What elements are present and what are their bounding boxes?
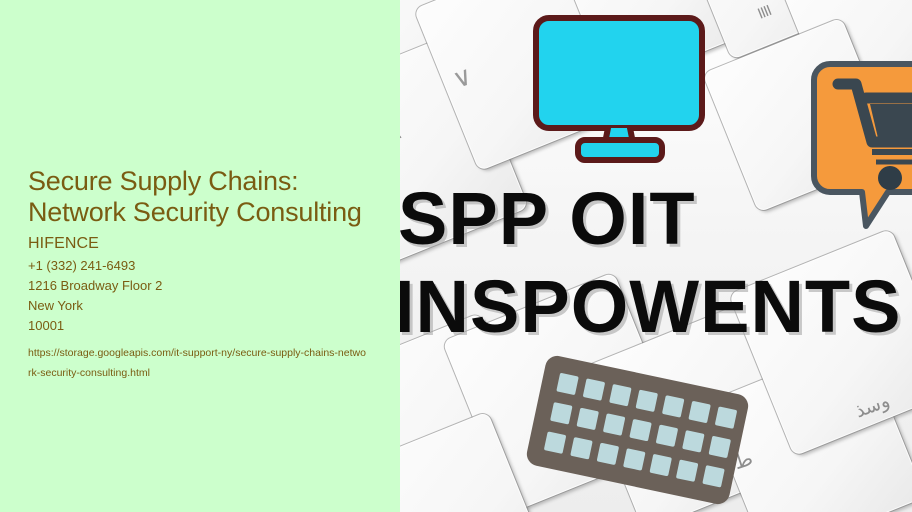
page-title: Secure Supply Chains: Network Security C… (28, 166, 378, 228)
shopping-cart-speech-bubble-icon (810, 58, 912, 233)
monitor-icon (530, 12, 710, 164)
info-panel: Secure Supply Chains: Network Security C… (0, 0, 400, 512)
hero-overlay-text-line-2: INSPOWENTS (400, 264, 901, 349)
promo-card: Secure Supply Chains: Network Security C… (0, 0, 912, 512)
phone-number: +1 (332) 241-6493 (28, 256, 378, 276)
street-address: 1216 Broadway Floor 2 (28, 276, 378, 296)
postal-code: 10001 (28, 316, 378, 336)
city: New York (28, 296, 378, 316)
hero-image: ∨ IIII ∧ Π ط وسذ ∧ (400, 0, 912, 512)
organization-name: HIFENCE (28, 234, 378, 254)
hero-overlay-text-line-1: SPP OIT (400, 176, 696, 261)
source-url-link[interactable]: https://storage.googleapis.com/it-suppor… (28, 343, 368, 383)
info-content: Secure Supply Chains: Network Security C… (28, 166, 378, 383)
